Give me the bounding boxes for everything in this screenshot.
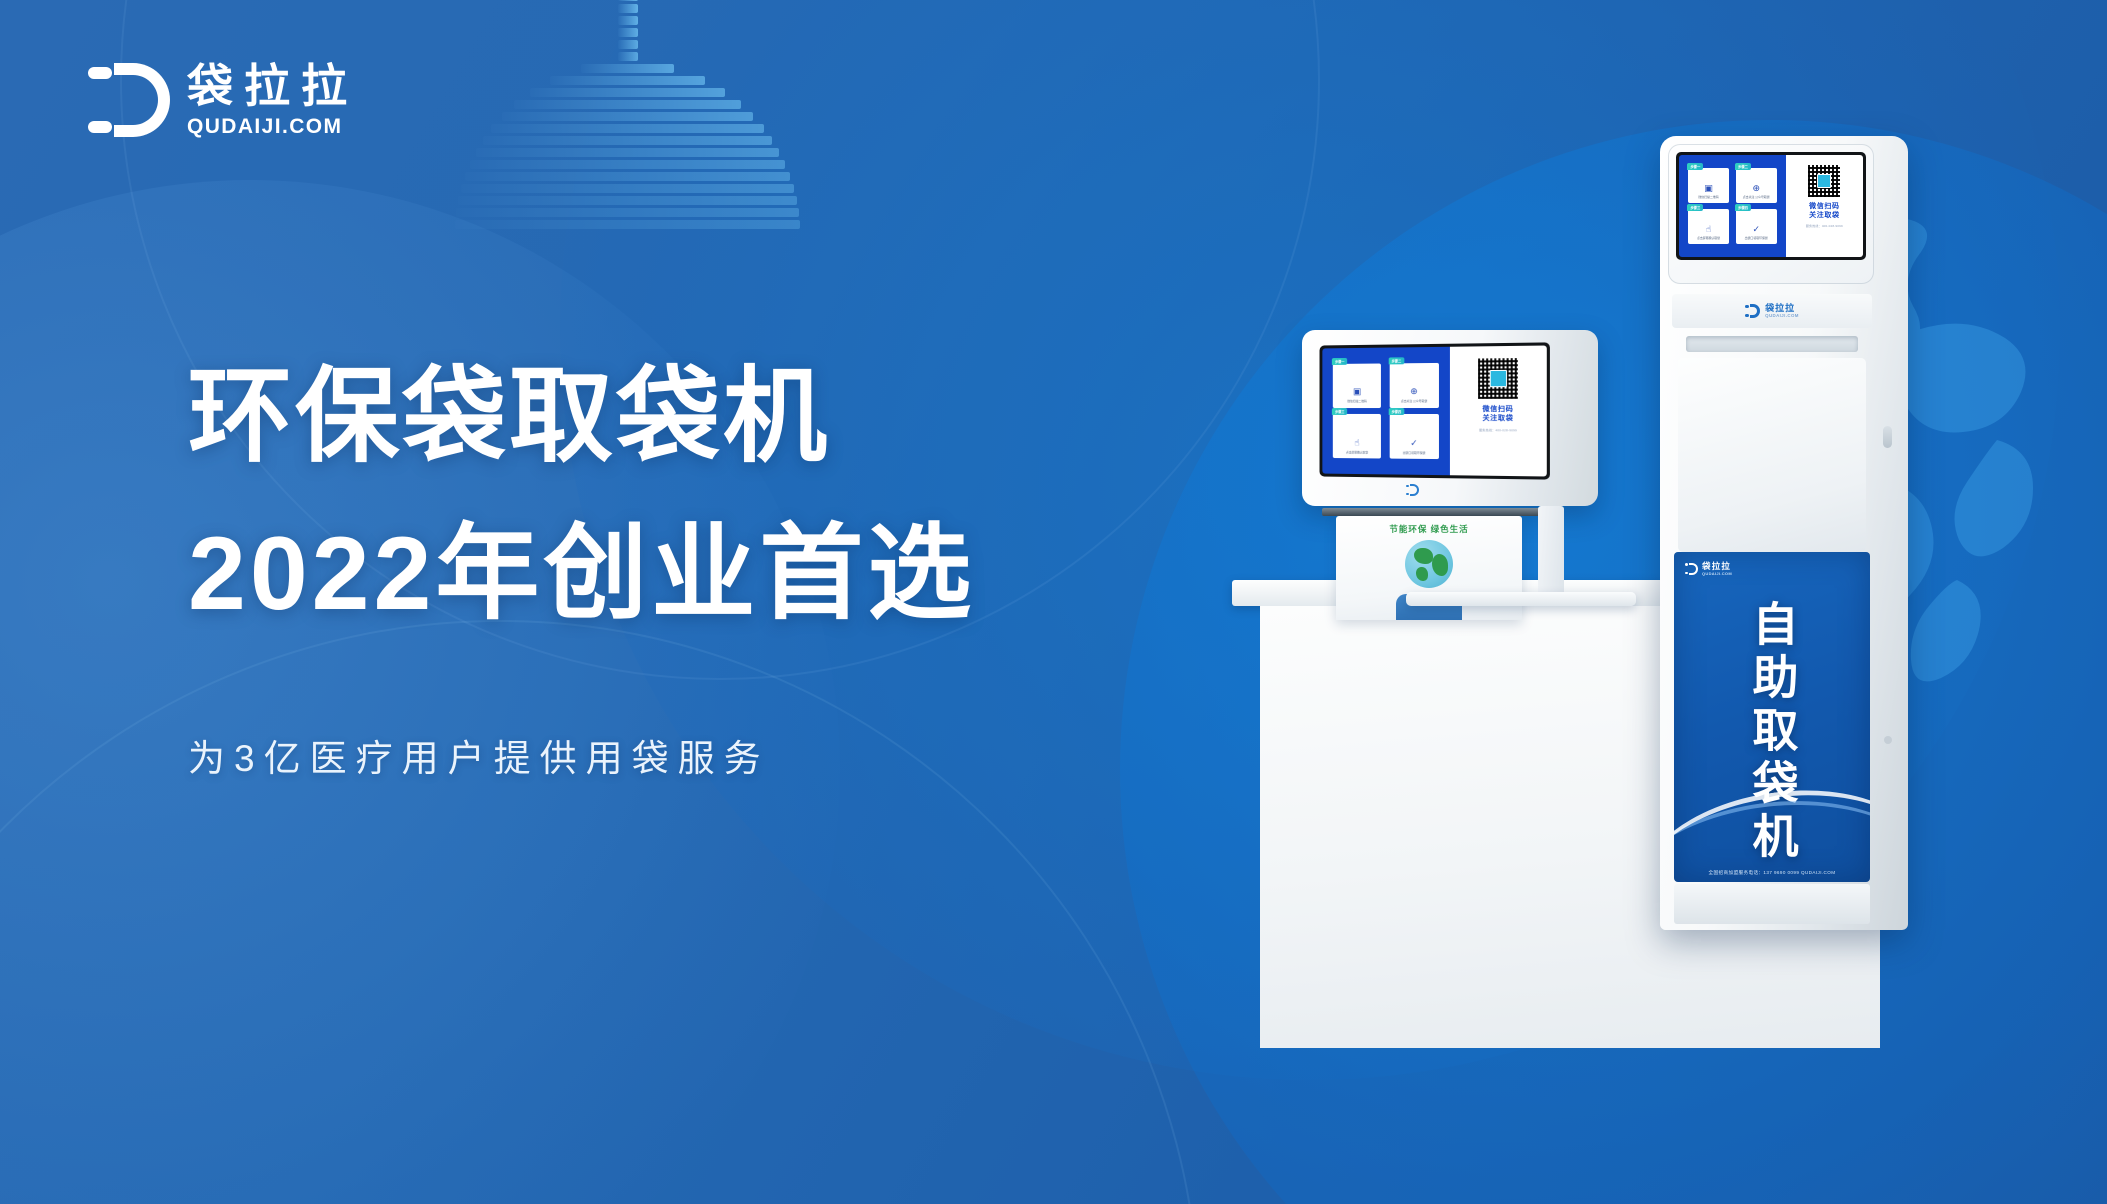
D-logo-icon [1406, 484, 1419, 496]
qr-cta: 微信扫码 关注取袋 [1482, 406, 1513, 424]
step-tag: 步骤一 [1332, 357, 1347, 364]
step-card[interactable]: 步骤三 ☝ 点击屏幕确认取袋 [1688, 209, 1729, 244]
qr-center-logo-icon [1817, 174, 1831, 188]
brand-logo-text: 袋拉拉 QUDAIJI.COM [187, 62, 358, 139]
product-scene: 步骤一 ▣ 微信扫描二维码 步骤二 ⊕ 点击关注 公众号取袋 步骤三 [1180, 150, 2080, 980]
kiosk-mid-body [1678, 358, 1866, 552]
floor-standing-kiosk: 步骤一 ▣ 微信扫描二维码 步骤二 ⊕ 点击关注 公众号取袋 步骤三 [1660, 136, 1908, 930]
tap-screen-icon: ☝ [1706, 225, 1711, 234]
D-logo-icon [1745, 304, 1760, 318]
step-tag: 步骤二 [1389, 357, 1405, 364]
kiosk-qr-panel: 微信扫码 关注取袋 服务热线：400-028-9099 [1786, 155, 1863, 257]
wechat-qr-code[interactable] [1786, 164, 1863, 198]
desktop-steps-panel: 步骤一 ▣ 微信扫描二维码 步骤二 ⊕ 点击关注 公众号取袋 步骤三 [1322, 347, 1450, 475]
headline-line-2: 2022年创业首选 [188, 507, 1188, 642]
service-hotline: 服务热线：400-028-9099 [1806, 224, 1843, 228]
poster-footer-text: 全国招商加盟服务电话：137 9690 0099 QUDAIJI.COM [1674, 870, 1870, 876]
step-card[interactable]: 步骤一 ▣ 微信扫描二维码 [1333, 363, 1381, 407]
follow-account-icon: ⊕ [1752, 184, 1760, 193]
step-card[interactable]: 步骤一 ▣ 微信扫描二维码 [1688, 168, 1729, 203]
desktop-screen-ui[interactable]: 步骤一 ▣ 微信扫描二维码 步骤二 ⊕ 点击关注 公众号取袋 步骤三 [1322, 345, 1546, 476]
kiosk-touchscreen[interactable]: 步骤一 ▣ 微信扫描二维码 步骤二 ⊕ 点击关注 公众号取袋 步骤三 [1676, 152, 1866, 260]
qr-cta-line-1: 微信扫码 [1482, 406, 1513, 415]
desktop-stand-base [1406, 592, 1636, 606]
step-caption: 出袋口领取环保袋 [1403, 451, 1426, 455]
kiosk-logo-band: 袋拉拉 QUDAIJI.COM [1672, 294, 1872, 328]
headline-line-1: 环保袋取袋机 [188, 350, 1188, 485]
step-tag: 步骤四 [1389, 408, 1405, 415]
step-card[interactable]: 步骤二 ⊕ 点击关注 公众号取袋 [1736, 168, 1777, 203]
striped-globe-icon [455, 0, 800, 230]
phone-scan-icon: ▣ [1353, 387, 1361, 396]
hero-copy: 环保袋取袋机 2022年创业首选 为3亿医疗用户提供用袋服务 [188, 350, 1188, 782]
kiosk-steps-panel: 步骤一 ▣ 微信扫描二维码 步骤二 ⊕ 点击关注 公众号取袋 步骤三 [1679, 155, 1786, 257]
step-caption: 点击关注 公众号取袋 [1401, 400, 1427, 404]
step-card[interactable]: 步骤四 ✓ 出袋口领取环保袋 [1736, 209, 1777, 244]
qr-cta-line-2: 关注取袋 [1482, 415, 1513, 424]
hero-subtitle: 为3亿医疗用户提供用袋服务 [188, 728, 1188, 782]
kiosk-side-indicator [1884, 736, 1892, 744]
collect-bag-icon: ✓ [1410, 438, 1417, 447]
kiosk-steps-grid: 步骤一 ▣ 微信扫描二维码 步骤二 ⊕ 点击关注 公众号取袋 步骤三 [1688, 168, 1776, 244]
collect-bag-icon: ✓ [1752, 225, 1760, 234]
kiosk-brand-name: 袋拉拉 [1765, 304, 1799, 313]
qr-cta-line-1: 微信扫码 [1809, 203, 1839, 212]
qr-center-logo-icon [1489, 370, 1506, 387]
D-logo-icon [88, 63, 170, 137]
step-caption: 出袋口领取环保袋 [1745, 237, 1768, 241]
brand-domain: QUDAIJI.COM [187, 115, 358, 139]
step-card[interactable]: 步骤三 ☝ 点击屏幕确认取袋 [1333, 414, 1381, 458]
desktop-stand-neck [1538, 506, 1564, 598]
step-tag: 步骤三 [1687, 204, 1703, 211]
desktop-dispenser-slot [1322, 508, 1548, 516]
qr-cta: 微信扫码 关注取袋 [1809, 203, 1839, 221]
step-caption: 点击屏幕确认取袋 [1697, 237, 1720, 241]
kiosk-side-button[interactable] [1883, 426, 1892, 448]
wechat-qr-code[interactable] [1450, 357, 1547, 400]
phone-scan-icon: ▣ [1704, 184, 1713, 193]
service-hotline: 服务热线：400-028-9099 [1479, 428, 1517, 432]
kiosk-base [1674, 884, 1870, 924]
poster-brand-name: 袋拉拉 [1702, 562, 1732, 571]
tap-screen-icon: ☝ [1354, 438, 1359, 447]
promo-banner: 袋拉拉 QUDAIJI.COM 环保袋取袋机 2022年创业首选 为3亿医疗用户… [0, 0, 2107, 1204]
eco-bag-slogan: 节能环保 绿色生活 [1336, 523, 1522, 535]
desktop-qr-panel: 微信扫码 关注取袋 服务热线：400-028-9099 [1450, 345, 1547, 476]
step-tag: 步骤四 [1735, 204, 1751, 211]
step-caption: 微信扫描二维码 [1698, 196, 1718, 200]
poster-logo: 袋拉拉 QUDAIJI.COM [1685, 562, 1732, 576]
brand-name-cn: 袋拉拉 [187, 62, 358, 111]
desktop-brand-mark [1406, 484, 1419, 496]
step-caption: 微信扫描二维码 [1347, 400, 1366, 404]
poster-brand-domain: QUDAIJI.COM [1702, 572, 1732, 576]
step-tag: 步骤三 [1332, 408, 1347, 415]
kiosk-brand-domain: QUDAIJI.COM [1765, 314, 1799, 318]
kiosk-screen-ui[interactable]: 步骤一 ▣ 微信扫描二维码 步骤二 ⊕ 点击关注 公众号取袋 步骤三 [1679, 155, 1863, 257]
qr-cta-line-2: 关注取袋 [1809, 212, 1839, 221]
step-caption: 点击屏幕确认取袋 [1346, 451, 1368, 455]
step-caption: 点击关注 公众号取袋 [1743, 196, 1770, 200]
kiosk-bag-dispenser-slot [1686, 336, 1858, 352]
follow-account-icon: ⊕ [1410, 387, 1417, 396]
earth-globe-icon [1405, 540, 1453, 588]
desktop-steps-grid: 步骤一 ▣ 微信扫描二维码 步骤二 ⊕ 点击关注 公众号取袋 步骤三 [1333, 363, 1439, 460]
step-card[interactable]: 步骤四 ✓ 出袋口领取环保袋 [1390, 414, 1439, 459]
desktop-touchscreen[interactable]: 步骤一 ▣ 微信扫描二维码 步骤二 ⊕ 点击关注 公众号取袋 步骤三 [1320, 342, 1550, 479]
step-card[interactable]: 步骤二 ⊕ 点击关注 公众号取袋 [1390, 363, 1439, 408]
brand-logo[interactable]: 袋拉拉 QUDAIJI.COM [88, 62, 358, 139]
desktop-bag-dispenser: 步骤一 ▣ 微信扫描二维码 步骤二 ⊕ 点击关注 公众号取袋 步骤三 [1302, 330, 1632, 620]
step-tag: 步骤二 [1735, 163, 1751, 170]
D-logo-icon [1685, 563, 1698, 575]
step-tag: 步骤一 [1687, 163, 1703, 170]
kiosk-poster-panel: 袋拉拉 QUDAIJI.COM 自助取袋机 全国招商加盟服务电话：137 969… [1674, 552, 1870, 882]
